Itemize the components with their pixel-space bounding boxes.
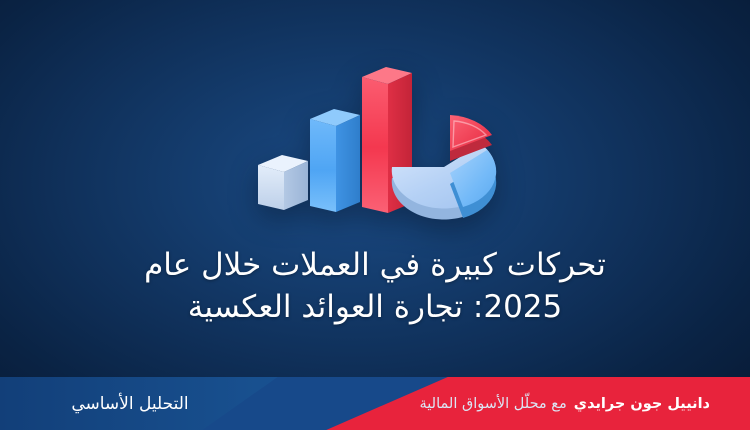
page-title: تحركات كبيرة في العملات خلال عام 2025: ت… — [0, 244, 750, 328]
footer-bar: التحليل الأساسي دانييل جون جرايدي مع محل… — [0, 377, 750, 430]
bar-small — [258, 155, 308, 210]
category-badge: التحليل الأساسي — [0, 377, 260, 430]
category-badge-label: التحليل الأساسي — [71, 394, 188, 414]
analyst-credit-prefix: مع محلّل الأسواق المالية — [420, 396, 567, 412]
analyst-name: دانييل جون جرايدي — [574, 396, 710, 412]
banner-root: تحركات كبيرة في العملات خلال عام 2025: ت… — [0, 0, 750, 430]
analyst-credit: دانييل جون جرايدي مع محلّل الأسواق المال… — [420, 377, 710, 430]
page-title-line-2: 2025: تجارة العوائد العكسية — [70, 286, 680, 328]
page-title-line-1: تحركات كبيرة في العملات خلال عام — [70, 244, 680, 286]
bar-medium — [310, 109, 360, 212]
hero-illustration — [248, 55, 518, 235]
